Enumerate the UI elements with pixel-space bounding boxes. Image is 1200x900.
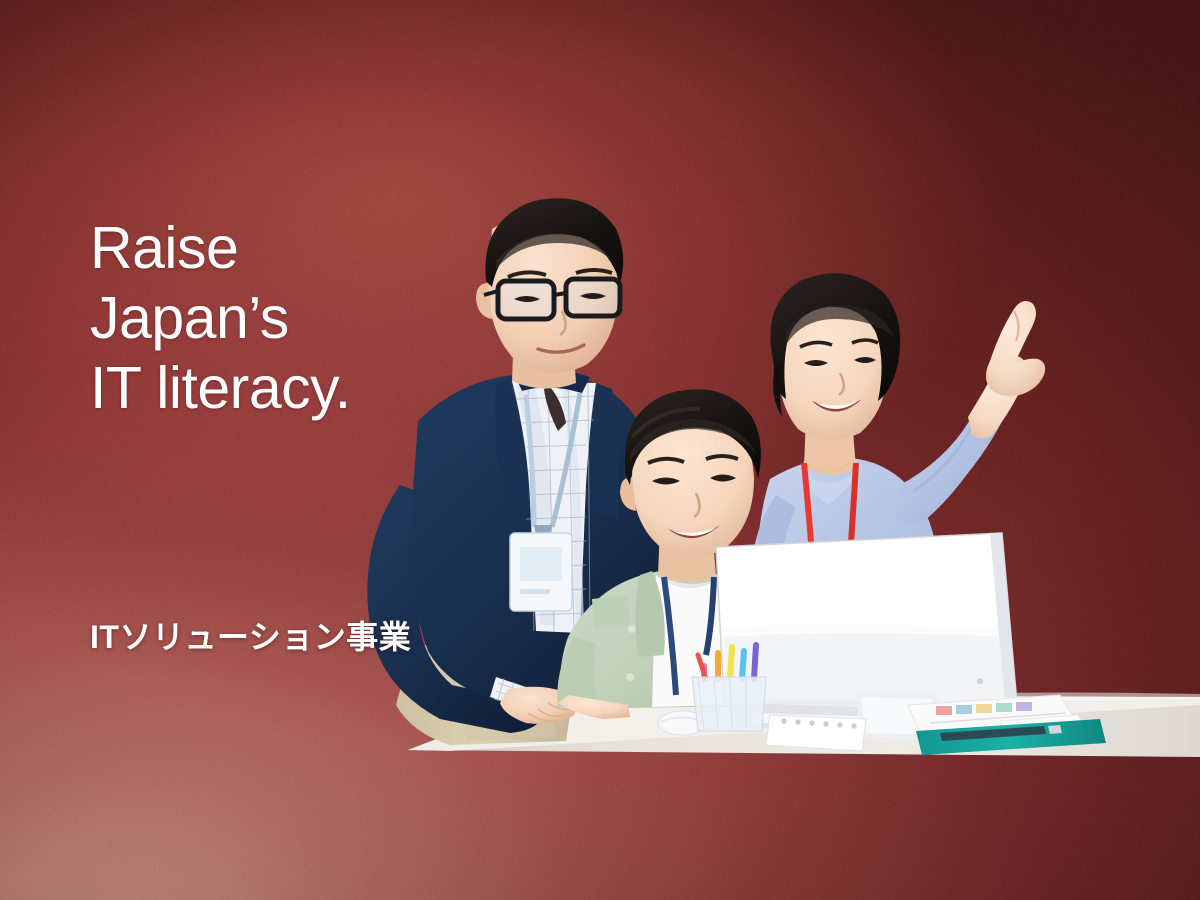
id-badge [510, 533, 572, 611]
hero-banner: Raise Japan’s IT literacy. ITソリューション事業 [0, 0, 1200, 900]
subtitle-label: ITソリューション事業 [90, 612, 411, 658]
hero-photo [300, 185, 1200, 760]
notepad [766, 715, 866, 751]
glasses [484, 279, 620, 319]
page-title: Raise Japan’s IT literacy. [90, 213, 351, 423]
